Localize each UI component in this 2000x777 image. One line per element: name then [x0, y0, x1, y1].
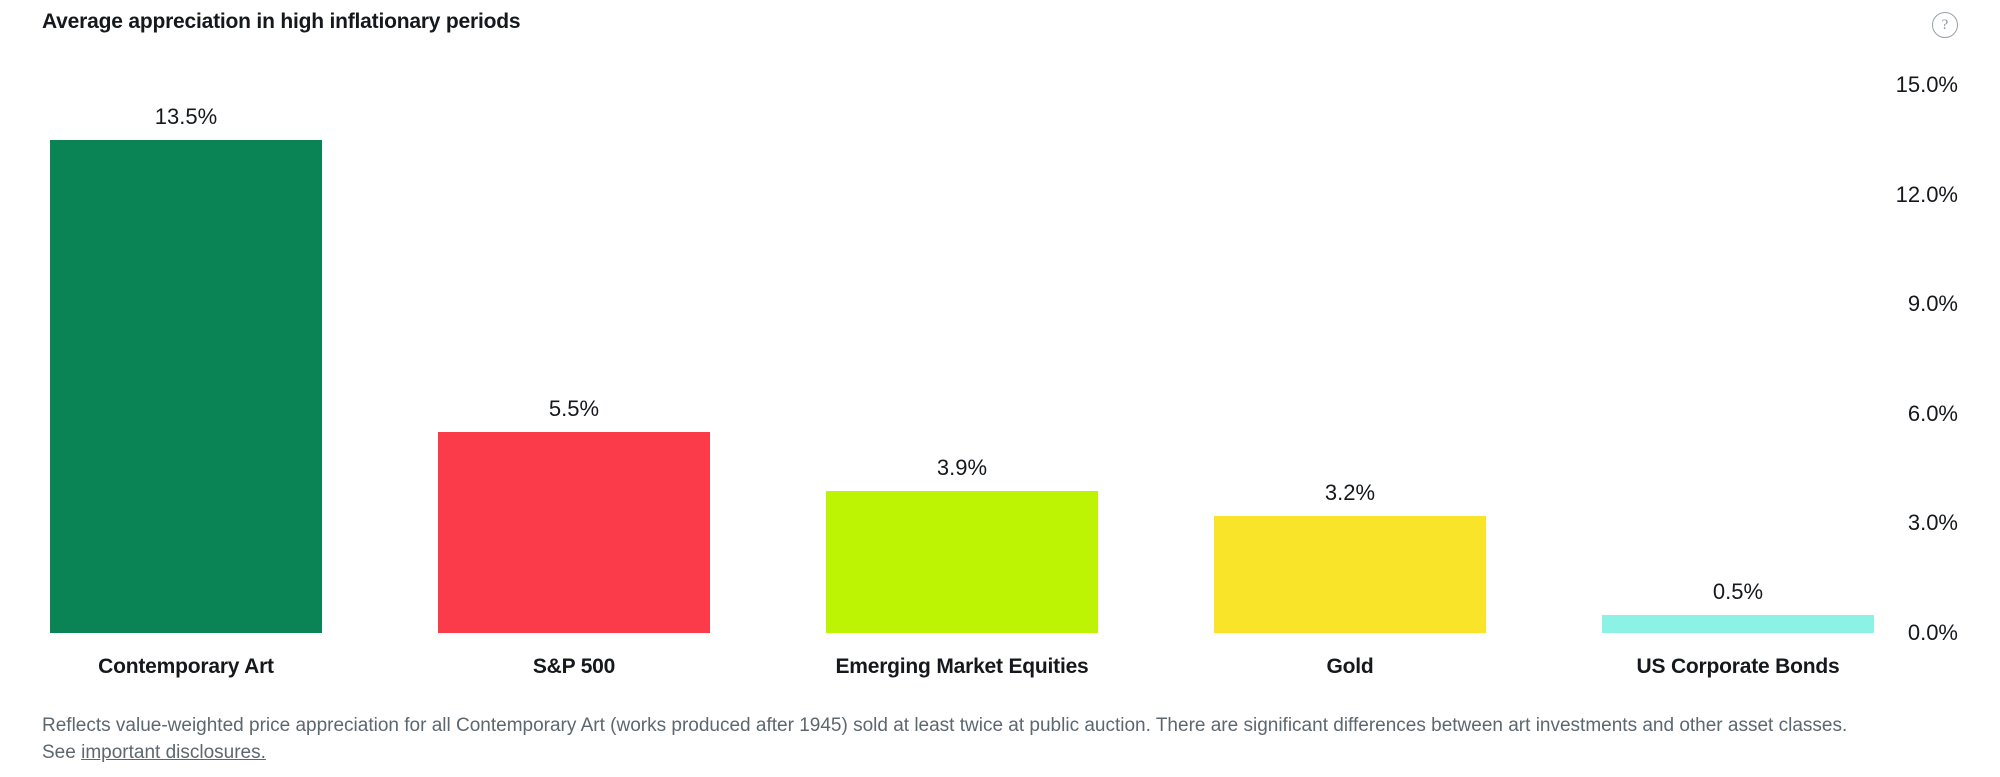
bar-value-label: 3.2% [1214, 480, 1486, 506]
x-axis-category-label: Emerging Market Equities [786, 655, 1138, 679]
x-axis-category-label: US Corporate Bonds [1562, 655, 1914, 679]
x-axis-category-label: Contemporary Art [10, 655, 362, 679]
plot-area: 15.0%12.0%9.0%6.0%3.0%0.0% 13.5%Contempo… [0, 0, 2000, 700]
important-disclosures-link[interactable]: important disclosures. [81, 742, 266, 763]
bar-group: 3.9%Emerging Market Equities [826, 0, 1098, 700]
bar-contemporary-art[interactable] [50, 140, 322, 633]
x-axis-category-label: Gold [1174, 655, 1526, 679]
bar-group: 0.5%US Corporate Bonds [1602, 0, 1874, 700]
bar-gold[interactable] [1214, 516, 1486, 633]
bar-us-corporate-bonds[interactable] [1602, 615, 1874, 633]
footnote: Reflects value-weighted price appreciati… [42, 712, 1958, 766]
footnote-see-label: See [42, 742, 81, 763]
bar-series: 13.5%Contemporary Art5.5%S&P 5003.9%Emer… [0, 0, 2000, 700]
bar-s-p-500[interactable] [438, 432, 710, 633]
bar-emerging-market-equities[interactable] [826, 491, 1098, 633]
bar-value-label: 0.5% [1602, 579, 1874, 605]
footnote-text: Reflects value-weighted price appreciati… [42, 715, 1847, 736]
bar-group: 5.5%S&P 500 [438, 0, 710, 700]
bar-value-label: 3.9% [826, 455, 1098, 481]
bar-group: 3.2%Gold [1214, 0, 1486, 700]
bar-value-label: 5.5% [438, 396, 710, 422]
bar-value-label: 13.5% [50, 104, 322, 130]
bar-group: 13.5%Contemporary Art [50, 0, 322, 700]
x-axis-category-label: S&P 500 [398, 655, 750, 679]
chart-page: Average appreciation in high inflationar… [0, 0, 2000, 777]
